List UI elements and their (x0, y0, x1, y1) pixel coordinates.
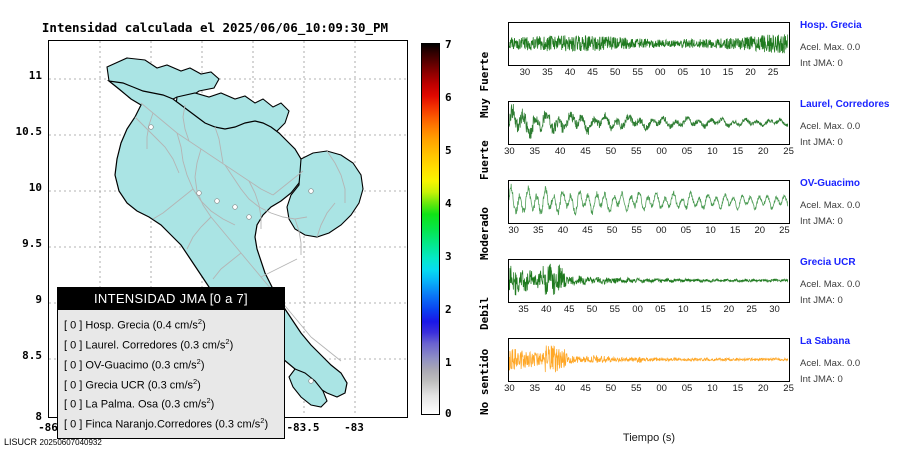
seis-tick-label: 35 (533, 225, 544, 236)
seis-tick-label: 15 (701, 304, 712, 315)
seis-tick-label: 10 (678, 304, 689, 315)
station-acel-4: Acel. Max. 0.0 (800, 279, 860, 290)
seis-tick-label: 50 (587, 304, 598, 315)
seis-tick-label: 05 (682, 383, 693, 394)
map-ytick-9: 9 (2, 293, 42, 306)
seis-tick-label: 20 (758, 383, 769, 394)
seis-tick-label: 20 (724, 304, 735, 315)
legend-close: ) (197, 379, 201, 391)
seis-tick-label: 45 (564, 304, 575, 315)
seismogram-panel-3[interactable] (508, 180, 790, 224)
seis-tick-label: 40 (558, 225, 569, 236)
seis-tick-label: 50 (606, 383, 617, 394)
seis-tick-label: 15 (733, 146, 744, 157)
legend-close: ) (211, 399, 215, 411)
waveform-trace-3 (509, 181, 788, 222)
legend-station: La Palma. Osa (85, 399, 158, 411)
seismogram-panel-2[interactable] (508, 101, 790, 145)
seis-tick-label: 55 (632, 67, 643, 78)
colorbar-label-no-sentido: No sentido (478, 349, 491, 415)
colorbar-tick-3: 3 (445, 250, 457, 263)
waveform-trace-2 (509, 102, 788, 143)
map-ytick-10: 10 (2, 181, 42, 194)
legend-accel: (0.3 cm/s (180, 340, 225, 352)
legend-list: [ 0 ] Hosp. Grecia (0.4 cm/s2) [ 0 ] Lau… (58, 310, 284, 438)
colorbar-label-moderado: Moderado (478, 207, 491, 260)
seis-tick-label: 00 (656, 225, 667, 236)
seis-tick-label: 10 (707, 146, 718, 157)
footer-watermark: LISUCR 20250607040932 (4, 437, 102, 447)
seis-tick-label: 20 (745, 67, 756, 78)
map-ytick-10-5: 10.5 (2, 125, 42, 138)
legend-station: OV-Guacimo (85, 359, 148, 371)
seis-tick-label: 15 (723, 67, 734, 78)
seis-tick-label: 15 (733, 383, 744, 394)
intensity-legend: INTENSIDAD JMA [0 a 7] [ 0 ] Hosp. Greci… (57, 287, 285, 439)
footer-label: LISUCR (4, 437, 37, 447)
intensity-colorbar (421, 43, 440, 415)
seis-tick-label: 50 (610, 67, 621, 78)
legend-close: ) (230, 340, 234, 352)
station-intjma-5: Int JMA: 0 (800, 374, 843, 385)
station-label-3: OV-Guacimo (800, 178, 860, 189)
list-item: [ 0 ] Hosp. Grecia (0.4 cm/s2) (64, 314, 284, 334)
station-label-5: La Sabana (800, 336, 850, 347)
seis-tick-label: 25 (783, 383, 794, 394)
legend-station: Finca Naranjo.Corredores (85, 419, 212, 431)
legend-close: ) (264, 419, 268, 431)
legend-value: [ 0 ] (64, 379, 82, 391)
legend-accel: (0.4 cm/s (153, 320, 198, 332)
legend-title: INTENSIDAD JMA [0 a 7] (58, 288, 284, 310)
legend-value: [ 0 ] (64, 419, 82, 431)
list-item: [ 0 ] Laurel. Corredores (0.3 cm/s2) (64, 334, 284, 354)
seis-tick-label: 50 (606, 146, 617, 157)
seis-tick-label: 20 (754, 225, 765, 236)
seis-tick-label: 30 (508, 225, 519, 236)
seis-tick-label: 10 (705, 225, 716, 236)
seis-tick-label: 15 (730, 225, 741, 236)
seismogram-xticks-4: 354045505500051015202530 (508, 304, 790, 316)
seis-tick-label: 30 (504, 383, 515, 394)
seis-tick-label: 25 (746, 304, 757, 315)
seis-tick-label: 00 (656, 146, 667, 157)
seis-tick-label: 30 (769, 304, 780, 315)
seis-tick-label: 25 (779, 225, 790, 236)
seis-tick-label: 25 (783, 146, 794, 157)
seis-tick-label: 10 (707, 383, 718, 394)
legend-value: [ 0 ] (64, 320, 82, 332)
seis-tick-label: 05 (678, 67, 689, 78)
waveform-trace-4 (509, 260, 788, 301)
seis-tick-label: 05 (682, 146, 693, 157)
seis-tick-label: 00 (632, 304, 643, 315)
waveform-trace-1 (509, 23, 788, 64)
list-item: [ 0 ] OV-Guacimo (0.3 cm/s2) (64, 354, 284, 374)
legend-accel: (0.3 cm/s (148, 379, 193, 391)
legend-value: [ 0 ] (64, 399, 82, 411)
seismogram-xticks-1: 303540455055000510152025 (508, 67, 790, 79)
seis-tick-label: 35 (542, 67, 553, 78)
seis-tick-label: 00 (656, 383, 667, 394)
list-item: [ 0 ] Finca Naranjo.Corredores (0.3 cm/s… (64, 413, 284, 433)
legend-value: [ 0 ] (64, 359, 82, 371)
colorbar-label-fuerte: Fuerte (478, 140, 491, 180)
seismogram-panel-5[interactable] (508, 338, 790, 382)
seis-tick-label: 40 (555, 383, 566, 394)
seis-tick-label: 05 (655, 304, 666, 315)
map-xtick--83: -83 (329, 421, 379, 434)
seis-tick-label: 40 (565, 67, 576, 78)
seis-tick-label: 05 (681, 225, 692, 236)
seis-tick-label: 40 (555, 146, 566, 157)
station-intjma-2: Int JMA: 0 (800, 137, 843, 148)
legend-station: Hosp. Grecia (85, 320, 149, 332)
colorbar-tick-6: 6 (445, 91, 457, 104)
seis-tick-label: 35 (529, 146, 540, 157)
legend-station: Grecia UCR (85, 379, 144, 391)
legend-station: Laurel. Corredores (85, 340, 177, 352)
colorbar-tick-0: 0 (445, 407, 457, 420)
station-label-4: Grecia UCR (800, 257, 856, 268)
colorbar-tick-5: 5 (445, 144, 457, 157)
legend-close: ) (202, 320, 206, 332)
colorbar-tick-4: 4 (445, 197, 457, 210)
colorbar-label-muy-fuerte: Muy Fuerte (478, 52, 491, 118)
colorbar-tick-1: 1 (445, 356, 457, 369)
legend-accel: (0.3 cm/s (161, 399, 206, 411)
seis-tick-label: 55 (609, 304, 620, 315)
map-ytick-11: 11 (2, 69, 42, 82)
waveform-trace-5 (509, 339, 788, 380)
seismogram-xaxis-label: Tiempo (s) (508, 432, 790, 444)
seis-tick-label: 45 (582, 225, 593, 236)
seis-tick-label: 45 (580, 146, 591, 157)
legend-value: [ 0 ] (64, 340, 82, 352)
legend-accel: (0.3 cm/s (151, 359, 196, 371)
seis-tick-label: 35 (529, 383, 540, 394)
page-title: Intensidad calculada el 2025/06/06_10:09… (0, 20, 430, 35)
seismogram-panel-1[interactable] (508, 22, 790, 66)
station-label-1: Hosp. Grecia (800, 20, 862, 31)
seis-tick-label: 10 (700, 67, 711, 78)
colorbar-tick-7: 7 (445, 38, 457, 51)
station-acel-5: Acel. Max. 0.0 (800, 358, 860, 369)
station-label-2: Laurel, Corredores (800, 99, 889, 110)
map-ytick-9-5: 9.5 (2, 237, 42, 250)
colorbar-label-debil: Debil (478, 297, 491, 330)
list-item: [ 0 ] Grecia UCR (0.3 cm/s2) (64, 374, 284, 394)
colorbar-tick-2: 2 (445, 303, 457, 316)
seismogram-xticks-5: 303540455055000510152025 (508, 383, 790, 395)
station-intjma-4: Int JMA: 0 (800, 295, 843, 306)
seismogram-xticks-3: 303540455055000510152025 (508, 225, 790, 237)
seis-tick-label: 45 (587, 67, 598, 78)
seis-tick-label: 55 (631, 225, 642, 236)
seis-tick-label: 25 (768, 67, 779, 78)
seis-tick-label: 30 (520, 67, 531, 78)
station-intjma-3: Int JMA: 0 (800, 216, 843, 227)
seis-tick-label: 35 (518, 304, 529, 315)
seismogram-xticks-2: 303540455055000510152025 (508, 146, 790, 158)
seis-tick-label: 45 (580, 383, 591, 394)
seis-tick-label: 40 (541, 304, 552, 315)
station-acel-1: Acel. Max. 0.0 (800, 42, 860, 53)
legend-accel: (0.3 cm/s (215, 419, 260, 431)
station-acel-3: Acel. Max. 0.0 (800, 200, 860, 211)
seis-tick-label: 55 (631, 383, 642, 394)
legend-close: ) (201, 359, 205, 371)
station-acel-2: Acel. Max. 0.0 (800, 121, 860, 132)
seis-tick-label: 20 (758, 146, 769, 157)
seis-tick-label: 50 (607, 225, 618, 236)
seismogram-panel-4[interactable] (508, 259, 790, 303)
footer-timestamp: 20250607040932 (40, 438, 102, 447)
map-ytick-8-5: 8.5 (2, 349, 42, 362)
map-xtick--83-5: -83.5 (278, 421, 328, 434)
seis-tick-label: 30 (504, 146, 515, 157)
station-intjma-1: Int JMA: 0 (800, 58, 843, 69)
seis-tick-label: 55 (631, 146, 642, 157)
seis-tick-label: 00 (655, 67, 666, 78)
list-item: [ 0 ] La Palma. Osa (0.3 cm/s2) (64, 393, 284, 413)
